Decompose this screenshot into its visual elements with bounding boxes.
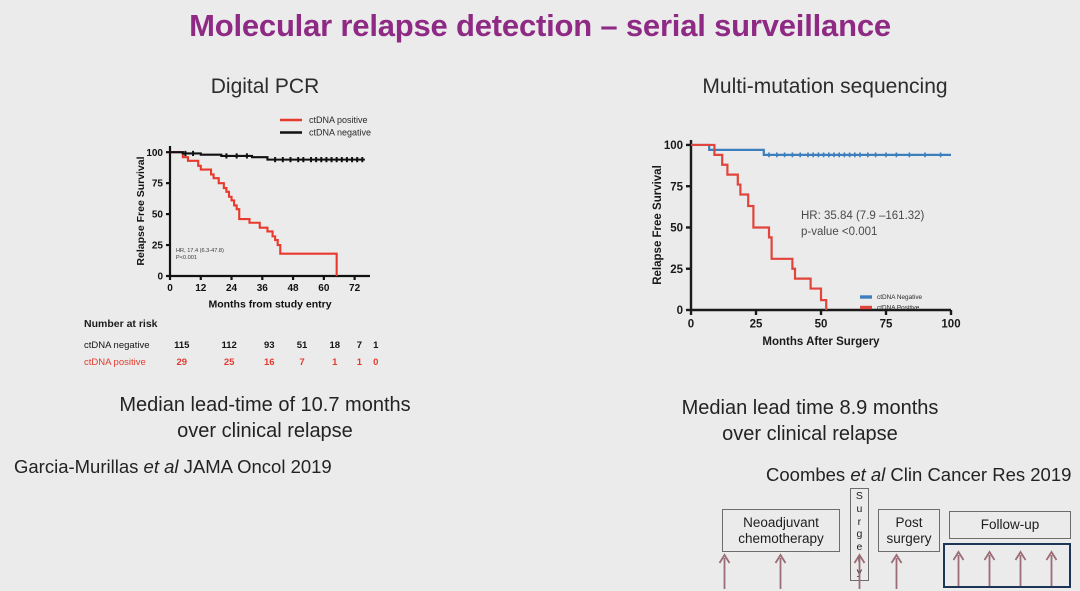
timepoint-arrow (952, 550, 965, 586)
x-tick-label: 0 (167, 283, 173, 294)
risk-cell: 1 (318, 354, 351, 371)
timepoint-arrow (774, 553, 787, 589)
page-title: Molecular relapse detection – serial sur… (0, 8, 1080, 44)
y-axis-label: Relapse Free Survival (135, 156, 147, 265)
table-row: ctDNA negative11511293511871 (84, 337, 384, 354)
citation-left-source: JAMA Oncol 2019 (179, 456, 332, 477)
x-axis-label: Months from study entry (208, 299, 331, 311)
citation-right-etal: et al (850, 464, 885, 485)
y-tick-label: 25 (152, 241, 164, 252)
km-curve (691, 145, 951, 155)
x-tick-label: 48 (288, 283, 300, 294)
x-tick-label: 25 (750, 319, 763, 331)
flowchart-box-followup: Follow-up (949, 511, 1071, 539)
x-tick-label: 72 (349, 283, 361, 294)
risk-cell: 51 (286, 337, 319, 354)
risk-table-title: Number at risk (84, 318, 384, 330)
x-tick-label: 24 (226, 283, 238, 294)
hr-annotation-line1: HR, 17.4 (6.3-47.8) (176, 248, 224, 254)
risk-cell: 18 (318, 337, 351, 354)
study-timeline-flowchart: Neoadjuvant chemotherapy Surgery Post su… (706, 487, 1080, 591)
km-curve (170, 152, 365, 159)
x-tick-label: 75 (880, 319, 893, 331)
flowchart-box-post-surgery: Post surgery (878, 509, 940, 552)
citation-left-author: Garcia-Murillas (14, 456, 144, 477)
table-row: ctDNA positive2925167110 (84, 354, 384, 371)
legend-label: ctDNA positive (309, 115, 368, 125)
digital-pcr-chart: 02550751000122436486072Months from study… (128, 112, 398, 322)
neoadjuvant-line2: chemotherapy (738, 531, 824, 547)
y-tick-label: 75 (670, 181, 683, 193)
timepoint-arrow (853, 553, 866, 589)
digital-pcr-svg: 02550751000122436486072Months from study… (128, 112, 398, 322)
risk-cell: 112 (205, 337, 252, 354)
citation-right-source: Clin Cancer Res 2019 (885, 464, 1071, 485)
risk-cell: 7 (286, 354, 319, 371)
post-surgery-line2: surgery (886, 531, 931, 547)
conclusion-left-line2: over clinical relapse (110, 418, 420, 444)
risk-cell: 29 (158, 354, 205, 371)
conclusion-right-line2: over clinical relapse (650, 421, 970, 447)
x-tick-label: 100 (941, 319, 960, 331)
panel-heading-left: Digital PCR (140, 75, 390, 99)
risk-cell: 1 (351, 354, 367, 371)
timepoint-arrow (1014, 550, 1027, 586)
x-tick-label: 60 (318, 283, 330, 294)
y-tick-label: 0 (677, 305, 683, 317)
slide-canvas: Molecular relapse detection – serial sur… (0, 0, 1080, 591)
conclusion-right: Median lead time 8.9 months over clinica… (650, 395, 970, 447)
legend-label: ctDNA negative (309, 128, 371, 138)
risk-cell: 115 (158, 337, 205, 354)
hr-annotation-line2: p-value <0.001 (801, 226, 877, 238)
multi-mutation-svg: 02550751000255075100Months After Surgery… (645, 122, 965, 362)
x-tick-label: 50 (815, 319, 828, 331)
risk-table-grid: ctDNA negative11511293511871ctDNA positi… (84, 337, 384, 371)
risk-row-label: ctDNA negative (84, 337, 158, 354)
risk-cell: 7 (351, 337, 367, 354)
number-at-risk-table: Number at risk ctDNA negative11511293511… (84, 318, 384, 371)
citation-right: Coombes et al Clin Cancer Res 2019 (766, 464, 1071, 486)
timepoint-arrow (890, 553, 903, 589)
followup-label: Follow-up (981, 517, 1040, 533)
conclusion-right-line1: Median lead time 8.9 months (650, 395, 970, 421)
risk-cell: 1 (368, 337, 384, 354)
hr-annotation-line1: HR: 35.84 (7.9 –161.32) (801, 210, 925, 222)
legend-label: ctDNA Negative (877, 294, 923, 301)
y-tick-label: 50 (152, 210, 164, 221)
conclusion-left-line1: Median lead-time of 10.7 months (110, 392, 420, 418)
risk-row-label: ctDNA positive (84, 354, 158, 371)
x-tick-label: 0 (688, 319, 694, 331)
timepoint-arrow (1045, 550, 1058, 586)
y-tick-label: 50 (670, 223, 683, 235)
conclusion-left: Median lead-time of 10.7 months over cli… (110, 392, 420, 444)
multi-mutation-chart: 02550751000255075100Months After Surgery… (645, 122, 965, 362)
x-axis-label: Months After Surgery (762, 336, 880, 348)
hr-annotation-line2: P<0.001 (176, 255, 197, 261)
y-tick-label: 0 (157, 272, 163, 283)
citation-right-author: Coombes (766, 464, 850, 485)
y-axis-label: Relapse Free Survival (652, 165, 664, 285)
citation-left-etal: et al (144, 456, 179, 477)
flowchart-box-neoadjuvant: Neoadjuvant chemotherapy (722, 509, 840, 552)
post-surgery-line1: Post (886, 515, 931, 531)
risk-cell: 25 (205, 354, 252, 371)
y-tick-label: 25 (670, 264, 683, 276)
x-tick-label: 36 (257, 283, 269, 294)
x-tick-label: 12 (195, 283, 207, 294)
timepoint-arrow (983, 550, 996, 586)
citation-left: Garcia-Murillas et al JAMA Oncol 2019 (14, 456, 332, 478)
risk-cell: 16 (253, 354, 286, 371)
risk-cell: 0 (368, 354, 384, 371)
timepoint-arrow (718, 553, 731, 589)
y-tick-label: 100 (146, 148, 163, 159)
y-tick-label: 75 (152, 179, 164, 190)
risk-cell: 93 (253, 337, 286, 354)
neoadjuvant-line1: Neoadjuvant (738, 515, 824, 531)
legend-label: ctDNA Positive (877, 305, 920, 312)
panel-heading-right: Multi-mutation sequencing (655, 75, 995, 99)
y-tick-label: 100 (664, 140, 683, 152)
